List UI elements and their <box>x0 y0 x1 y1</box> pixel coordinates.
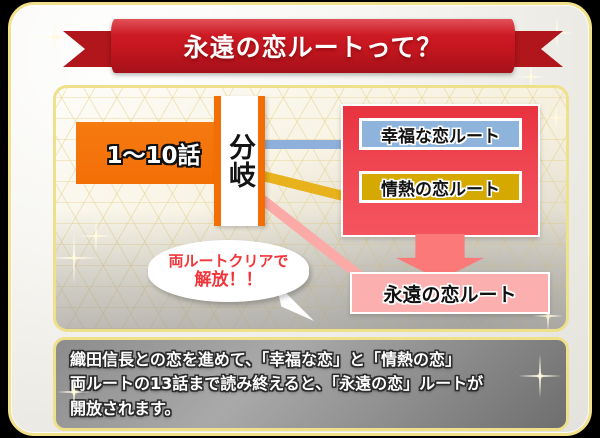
balloon-line-2: 解放！！ <box>195 270 263 290</box>
final-route-label: 永遠の恋ルート <box>383 280 516 307</box>
page-title: 永遠の恋ルートって？ <box>184 28 443 64</box>
final-route-box: 永遠の恋ルート <box>350 272 550 314</box>
branch-label: 分岐 <box>226 133 253 189</box>
episodes-label: 1〜10話 <box>106 136 200 170</box>
ribbon-body: 永遠の恋ルートって？ <box>111 19 515 73</box>
route-chip-happy: 幸福な恋ルート <box>359 118 522 150</box>
outer-card: 永遠の恋ルートって？ 1〜10話 分岐 <box>8 2 592 436</box>
speech-balloon: 両ルートクリアで 解放！！ <box>148 240 309 302</box>
route-label-happy: 幸福な恋ルート <box>381 122 500 147</box>
episodes-box: 1〜10話 <box>76 122 231 184</box>
route-chip-passion: 情熱の恋ルート <box>359 171 522 203</box>
diagram-panel: 1〜10話 分岐 幸福な恋ルート 情熱の恋ルート 永遠の恋ルート <box>53 85 569 332</box>
balloon-line-1: 両ルートクリアで <box>168 252 288 270</box>
description-panel: 織田信長との恋を進めて、「幸福な恋」と「情熱の恋」 両ルートの13話まで読み終え… <box>53 337 569 431</box>
branch-box: 分岐 <box>214 96 265 226</box>
description-line-1: 織田信長との恋を進めて、「幸福な恋」と「情熱の恋」 <box>70 348 554 372</box>
connector-line-happy <box>259 140 351 149</box>
description-line-2: 両ルートの13話まで読み終えると、「永遠の恋」ルートが <box>70 372 554 396</box>
screenshot-root: 永遠の恋ルートって？ 1〜10話 分岐 <box>0 0 600 438</box>
route-label-passion: 情熱の恋ルート <box>381 175 500 200</box>
description-line-3: 開放されます。 <box>70 397 554 421</box>
title-ribbon: 永遠の恋ルートって？ <box>63 17 563 75</box>
